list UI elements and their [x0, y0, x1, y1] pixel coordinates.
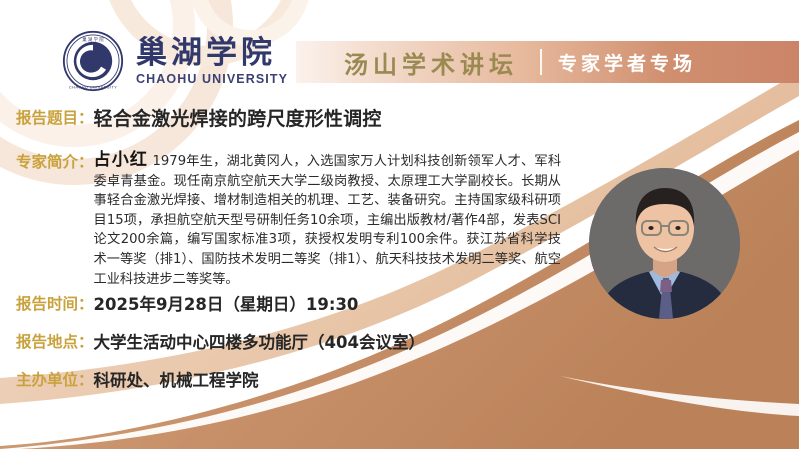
svg-text:CHAOHU UNIVERSITY: CHAOHU UNIVERSITY	[69, 84, 117, 89]
lecture-time-label: 报告时间：	[16, 293, 94, 316]
forum-subtitle: 专家学者专场	[558, 49, 696, 76]
forum-title: 汤山学术讲坛	[344, 45, 518, 80]
speaker-portrait	[589, 168, 740, 319]
lecture-place-value: 大学生活动中心四楼多功能厅（404会议室）	[94, 331, 425, 354]
university-name-en: CHAOHU UNIVERSITY	[136, 72, 288, 87]
speaker-portrait-image	[589, 168, 740, 319]
poster-canvas: 巢 湖 学 院 CHAOHU UNIVERSITY 巢湖学院 CHAOHU UN…	[0, 0, 799, 449]
speaker-bio-text: 占小红 1979年生，湖北黄冈人，入选国家万人计划科技创新领军人才、军科委卓青基…	[94, 151, 561, 289]
speaker-bio-row: 专家简介： 占小红 1979年生，湖北黄冈人，入选国家万人计划科技创新领军人才、…	[16, 151, 561, 289]
lecture-host-row: 主办单位： 科研处、机械工程学院	[16, 369, 259, 392]
lecture-host-label: 主办单位：	[16, 369, 94, 392]
lecture-time-value: 2025年9月28日（星期日）19:30	[94, 293, 359, 316]
lecture-place-row: 报告地点： 大学生活动中心四楼多功能厅（404会议室）	[16, 331, 425, 354]
speaker-name: 占小红	[94, 150, 149, 170]
forum-banner: 汤山学术讲坛 专家学者专场	[296, 41, 799, 83]
university-seal-icon: 巢 湖 学 院 CHAOHU UNIVERSITY	[62, 30, 124, 92]
poster-header: 巢 湖 学 院 CHAOHU UNIVERSITY 巢湖学院 CHAOHU UN…	[0, 0, 799, 100]
university-logo: 巢 湖 学 院 CHAOHU UNIVERSITY 巢湖学院 CHAOHU UN…	[62, 30, 288, 92]
lecture-place-label: 报告地点：	[16, 331, 94, 354]
svg-text:巢 湖 学 院: 巢 湖 学 院	[82, 36, 104, 43]
university-name-cn: 巢湖学院	[136, 36, 288, 70]
speaker-bio-label: 专家简介：	[16, 151, 94, 174]
speaker-bio-paragraph: 1979年生，湖北黄冈人，入选国家万人计划科技创新领军人才、军科委卓青基金。现任…	[94, 154, 561, 287]
lecture-time-row: 报告时间： 2025年9月28日（星期日）19:30	[16, 293, 358, 316]
lecture-title-label: 报告题目：	[16, 107, 94, 130]
lecture-title-value: 轻合金激光焊接的跨尺度形性调控	[94, 107, 382, 131]
lecture-title-row: 报告题目： 轻合金激光焊接的跨尺度形性调控	[16, 107, 382, 131]
lecture-host-value: 科研处、机械工程学院	[94, 369, 259, 392]
banner-divider	[540, 49, 542, 75]
